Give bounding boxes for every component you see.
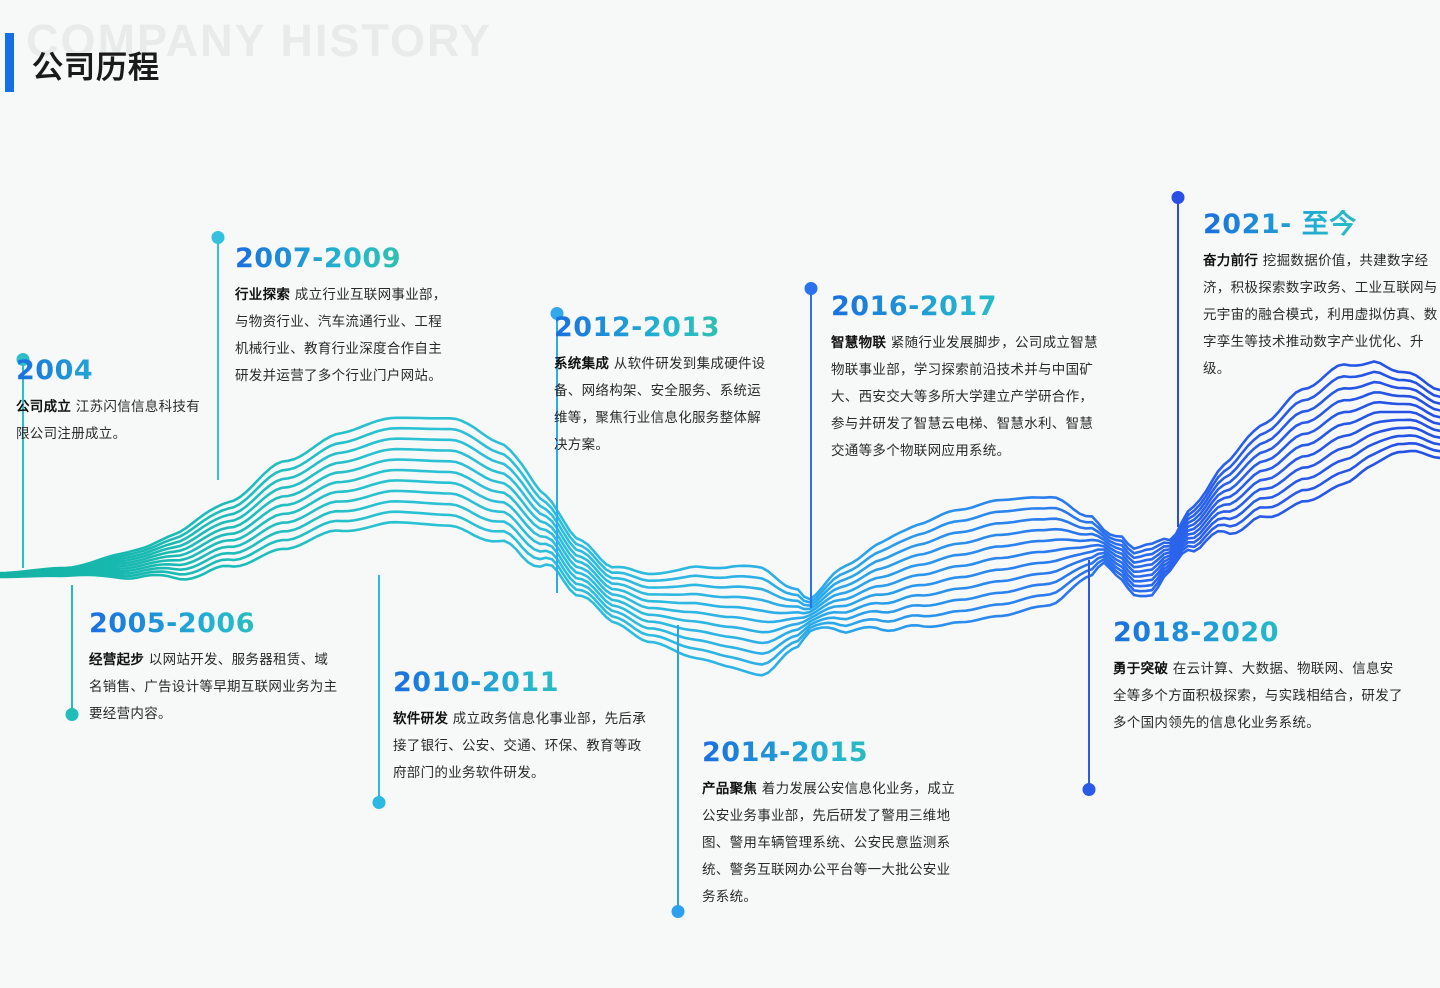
- milestone-lead: 智慧物联: [831, 335, 886, 351]
- connector-2018-2020: [1088, 560, 1090, 790]
- connector-2010-2011: [378, 575, 380, 803]
- connector-dot: [1172, 191, 1185, 204]
- milestone-lead: 奋力前行: [1203, 253, 1258, 269]
- connector-dot: [805, 282, 818, 295]
- milestone-year: 2012-2013: [554, 313, 772, 343]
- milestone-2021[interactable]: 2021- 至今 奋力前行 挖掘数据价值，共建数字经济，积极探索数字政务、工业互…: [1203, 210, 1440, 383]
- page-title: 公司历程: [32, 53, 160, 84]
- company-history-infographic: COMPANY HISTORY 公司历程: [0, 0, 1440, 988]
- milestone-lead: 软件研发: [393, 711, 448, 727]
- milestone-lead: 勇于突破: [1113, 661, 1168, 677]
- milestone-description: 经营起步 以网站开发、服务器租赁、域名销售、广告设计等早期互联网业务为主要经营内…: [89, 647, 341, 728]
- milestone-2004[interactable]: 2004 公司成立 江苏闪信信息科技有限公司注册成立。: [16, 356, 204, 448]
- connector-dot: [373, 796, 386, 809]
- milestone-lead: 行业探索: [235, 287, 290, 303]
- milestone-2018-2020[interactable]: 2018-2020 勇于突破 在云计算、大数据、物联网、信息安全等多个方面积极探…: [1113, 618, 1403, 737]
- milestone-year: 2004: [16, 356, 204, 386]
- milestone-description: 行业探索 成立行业互联网事业部，与物资行业、汽车流通行业、工程机械行业、教育行业…: [235, 282, 450, 390]
- milestone-year: 2016-2017: [831, 292, 1106, 322]
- milestone-year: 2005-2006: [89, 609, 341, 639]
- milestone-description: 勇于突破 在云计算、大数据、物联网、信息安全等多个方面积极探索，与实践相结合，研…: [1113, 656, 1403, 737]
- connector-2014-2015: [677, 625, 679, 912]
- milestone-text: 紧随行业发展脚步，公司成立智慧物联事业部，学习探索前沿技术并与中国矿大、西安交大…: [831, 335, 1098, 459]
- milestone-2007-2009[interactable]: 2007-2009 行业探索 成立行业互联网事业部，与物资行业、汽车流通行业、工…: [235, 244, 450, 390]
- milestone-year: 2014-2015: [702, 738, 962, 768]
- connector-2007-2009: [217, 237, 219, 480]
- milestone-2016-2017[interactable]: 2016-2017 智慧物联 紧随行业发展脚步，公司成立智慧物联事业部，学习探索…: [831, 292, 1106, 465]
- connector-2016-2017: [810, 288, 812, 608]
- header-accent-bar: [5, 33, 14, 92]
- milestone-lead: 产品聚焦: [702, 781, 757, 797]
- page-header: COMPANY HISTORY 公司历程: [0, 0, 600, 110]
- connector-2005-2006: [71, 585, 73, 715]
- connector-dot: [212, 231, 225, 244]
- milestone-year: 2010-2011: [393, 668, 649, 698]
- milestone-text: 着力发展公安信息化业务，成立公安业务事业部，先后研发了警用三维地图、警用车辆管理…: [702, 781, 955, 905]
- milestone-description: 软件研发 成立政务信息化事业部，先后承接了银行、公安、交通、环保、教育等政府部门…: [393, 706, 649, 787]
- milestone-description: 奋力前行 挖掘数据价值，共建数字经济，积极探索数字政务、工业互联网与元宇宙的融合…: [1203, 248, 1440, 383]
- milestone-text: 挖掘数据价值，共建数字经济，积极探索数字政务、工业互联网与元宇宙的融合模式，利用…: [1203, 253, 1438, 377]
- milestone-lead: 公司成立: [16, 399, 71, 415]
- milestone-year: 2007-2009: [235, 244, 450, 274]
- connector-dot: [672, 905, 685, 918]
- milestone-2005-2006[interactable]: 2005-2006 经营起步 以网站开发、服务器租赁、域名销售、广告设计等早期互…: [89, 609, 341, 728]
- milestone-year: 2021- 至今: [1203, 210, 1440, 240]
- milestone-2012-2013[interactable]: 2012-2013 系统集成 从软件研发到集成硬件设备、网络构架、安全服务、系统…: [554, 313, 772, 459]
- milestone-description: 产品聚焦 着力发展公安信息化业务，成立公安业务事业部，先后研发了警用三维地图、警…: [702, 776, 962, 911]
- connector-dot: [1083, 783, 1096, 796]
- milestone-lead: 系统集成: [554, 356, 609, 372]
- connector-2021: [1177, 197, 1179, 527]
- milestone-2014-2015[interactable]: 2014-2015 产品聚焦 着力发展公安信息化业务，成立公安业务事业部，先后研…: [702, 738, 962, 911]
- connector-dot: [66, 708, 79, 721]
- milestone-year: 2018-2020: [1113, 618, 1403, 648]
- milestone-description: 公司成立 江苏闪信信息科技有限公司注册成立。: [16, 394, 204, 448]
- milestone-description: 智慧物联 紧随行业发展脚步，公司成立智慧物联事业部，学习探索前沿技术并与中国矿大…: [831, 330, 1106, 465]
- milestone-lead: 经营起步: [89, 652, 144, 668]
- milestone-description: 系统集成 从软件研发到集成硬件设备、网络构架、安全服务、系统运维等，聚焦行业信息…: [554, 351, 772, 459]
- milestone-2010-2011[interactable]: 2010-2011 软件研发 成立政务信息化事业部，先后承接了银行、公安、交通、…: [393, 668, 649, 787]
